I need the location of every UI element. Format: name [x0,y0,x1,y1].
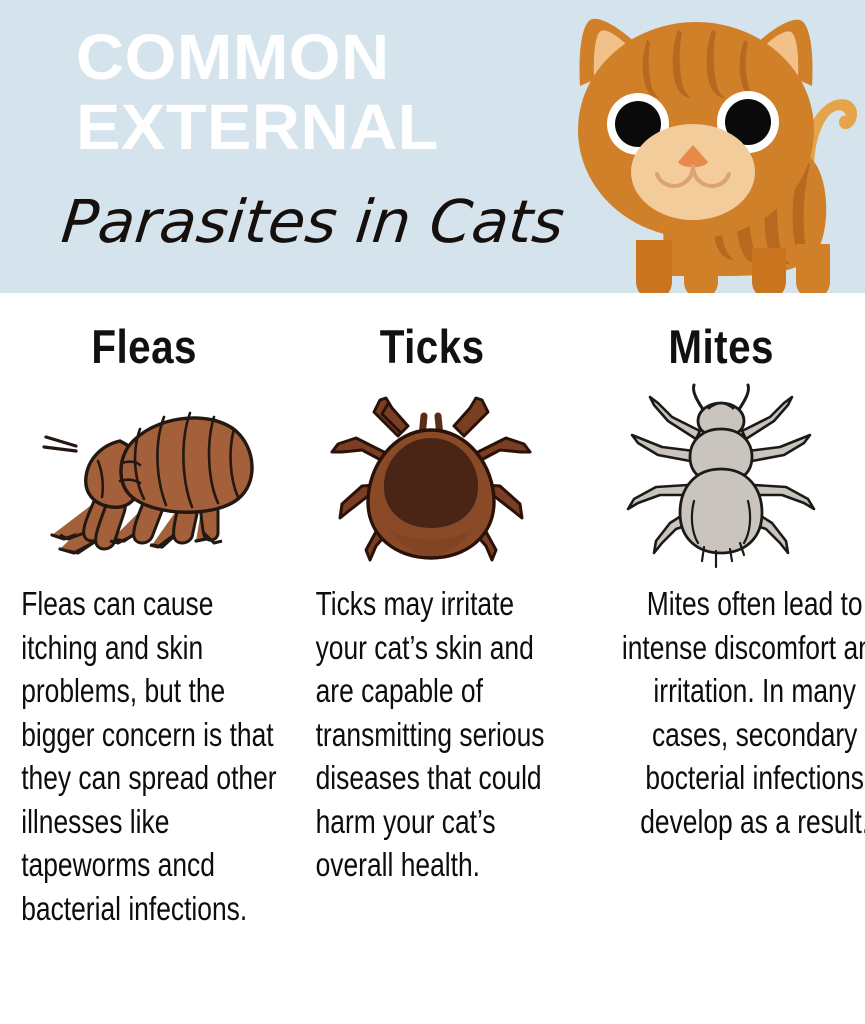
tick-icon [298,376,566,576]
column-body-mites: Mites often lead to intense discomfort a… [620,582,865,843]
title-block: COMMON EXTERNAL [76,22,596,162]
title-line-1: COMMON [76,22,617,92]
parasite-columns: Fleas [0,300,865,1024]
flea-icon [10,376,278,576]
column-body-fleas: Fleas can cause itching and skin problem… [10,582,278,930]
column-ticks: Ticks [288,300,576,1024]
column-fleas: Fleas [0,300,288,1024]
column-heading-fleas: Fleas [29,322,260,372]
cat-illustration [552,8,865,293]
column-body-ticks: Ticks may irritate your cat’s skin and a… [298,582,566,887]
header-band: COMMON EXTERNAL Parasites in Cats [0,0,865,293]
infographic-poster: COMMON EXTERNAL Parasites in Cats [0,0,865,1024]
column-heading-mites: Mites [605,322,836,372]
subtitle-script-text: Parasites in Cats [58,186,567,258]
column-heading-ticks: Ticks [317,322,548,372]
title-line-2: EXTERNAL [76,92,617,162]
mite-icon [587,376,855,576]
column-mites: Mites [577,300,865,1024]
